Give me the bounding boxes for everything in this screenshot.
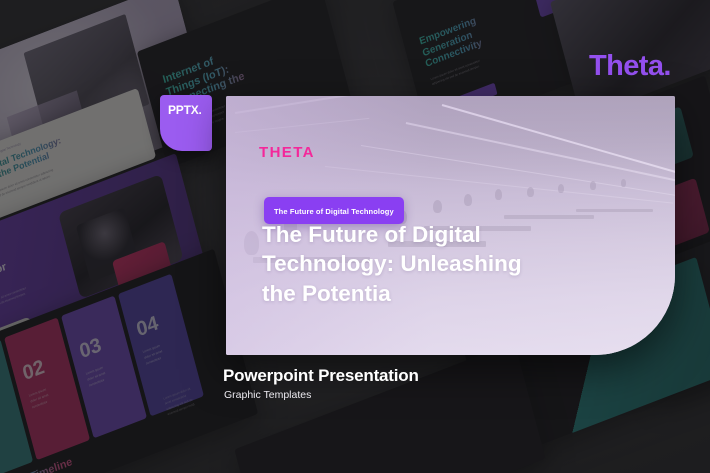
pptx-format-badge: PPTX. (160, 95, 212, 151)
hero-theta-logo: THETA (259, 144, 315, 161)
hero-title: The Future of Digital Technology: Unleas… (262, 220, 592, 308)
screenshot-stage: Internet of Things (IoT): Connecting the… (0, 0, 710, 473)
caption-subtitle: Graphic Templates (224, 389, 311, 401)
pptx-badge-label: PPTX. (168, 103, 202, 117)
caption-title: Powerpoint Presentation (223, 366, 419, 386)
hero-tag-label: The Future of Digital Technology (274, 207, 394, 216)
hero-slide[interactable]: THETA The Future of Digital Technology T… (226, 96, 675, 355)
theta-wordmark: Theta. (589, 52, 671, 81)
